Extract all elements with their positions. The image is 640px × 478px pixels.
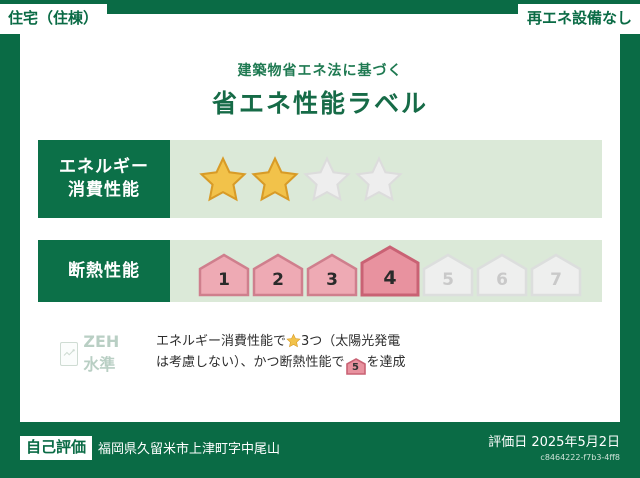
star-rating (198, 154, 404, 204)
zeh-desc-part2: は考慮しない）、かつ断熱性能で (156, 355, 345, 370)
zeh-mark-label: ZEH水準 (83, 332, 134, 375)
insulation-grade-2: 2 (252, 253, 304, 297)
evaluation-date-value: 2025年5月2日 (531, 435, 620, 450)
zeh-desc-badge-value: 5 (346, 358, 366, 377)
insulation-grade-6: 6 (476, 253, 528, 297)
footer-band: 自己評価 福岡県久留米市上津町字中尾山 評価日 2025年5月2日 c84642… (0, 422, 640, 478)
insulation-grade-1-value: 1 (218, 270, 230, 297)
house-icon-inline-badge: 5 (346, 358, 366, 375)
page-title: 省エネ性能ラベル (20, 84, 620, 120)
evaluation-date-label: 評価日 (488, 435, 527, 450)
insulation-grade-4-value: 4 (383, 267, 396, 297)
insulation-performance-label: 断熱性能 (38, 240, 170, 302)
star-icon-empty-4 (354, 154, 404, 204)
evaluation-date: 評価日 2025年5月2日 (488, 431, 620, 450)
insulation-grade-3-value: 3 (326, 270, 338, 297)
star-icon-empty-3 (302, 154, 352, 204)
zeh-desc-star-count: 3つ（太陽光発電 (301, 334, 400, 349)
zeh-desc-part3: を達成 (367, 355, 406, 370)
energy-label-line2: 消費性能 (68, 180, 140, 200)
zeh-house-icon (60, 342, 78, 366)
star-icon-filled-1 (198, 154, 248, 204)
energy-performance-value (170, 140, 602, 218)
zeh-description: エネルギー消費性能で 3つ（太陽光発電 は考慮しない）、かつ断熱性能で 5 を達… (134, 332, 602, 375)
zeh-standard-note: ZEH水準 エネルギー消費性能で 3つ（太陽光発電 は考慮しない）、かつ断熱性能… (38, 332, 602, 375)
insulation-grade-5: 5 (422, 253, 474, 297)
zeh-mark: ZEH水準 (38, 332, 134, 375)
insulation-performance-value: 1 2 3 (170, 240, 602, 302)
insulation-grade-5-value: 5 (442, 270, 454, 297)
insulation-grade-7: 7 (530, 253, 582, 297)
insulation-grade-3: 3 (306, 253, 358, 297)
title-subtitle: 建築物省エネ法に基づく (20, 60, 620, 80)
energy-performance-label: エネルギー 消費性能 (38, 140, 170, 218)
star-icon-inline (286, 333, 301, 348)
title-block: 建築物省エネ法に基づく 省エネ性能ラベル (20, 60, 620, 120)
renewable-equipment-tag: 再エネ設備なし (518, 4, 640, 34)
insulation-grade-7-value: 7 (550, 270, 562, 297)
self-evaluation-badge: 自己評価 (20, 436, 92, 460)
property-address: 福岡県久留米市上津町字中尾山 (98, 438, 280, 457)
energy-performance-label: 住宅（住棟） 再エネ設備なし 建築物省エネ法に基づく 省エネ性能ラベル エネルギ… (0, 0, 640, 478)
insulation-grade-1: 1 (198, 253, 250, 297)
insulation-grade-6-value: 6 (496, 270, 508, 297)
insulation-grade-4-achieved: 4 (360, 245, 420, 297)
evaluation-id: c8464222-f7b3-4ff8 (488, 453, 620, 462)
footer-right-group: 評価日 2025年5月2日 c8464222-f7b3-4ff8 (488, 431, 620, 462)
energy-performance-row: エネルギー 消費性能 (38, 140, 602, 218)
insulation-grade-2-value: 2 (272, 270, 284, 297)
zeh-desc-part1: エネルギー消費性能で (156, 334, 286, 349)
footer-left-group: 自己評価 福岡県久留米市上津町字中尾山 (20, 436, 280, 460)
building-type-tag: 住宅（住棟） (0, 4, 107, 34)
insulation-performance-row: 断熱性能 1 2 (38, 240, 602, 302)
label-card: 建築物省エネ法に基づく 省エネ性能ラベル エネルギー 消費性能 (20, 14, 620, 422)
insulation-grade-scale: 1 2 3 (198, 245, 582, 297)
star-icon-filled-2 (250, 154, 300, 204)
energy-label-line1: エネルギー (59, 157, 149, 177)
